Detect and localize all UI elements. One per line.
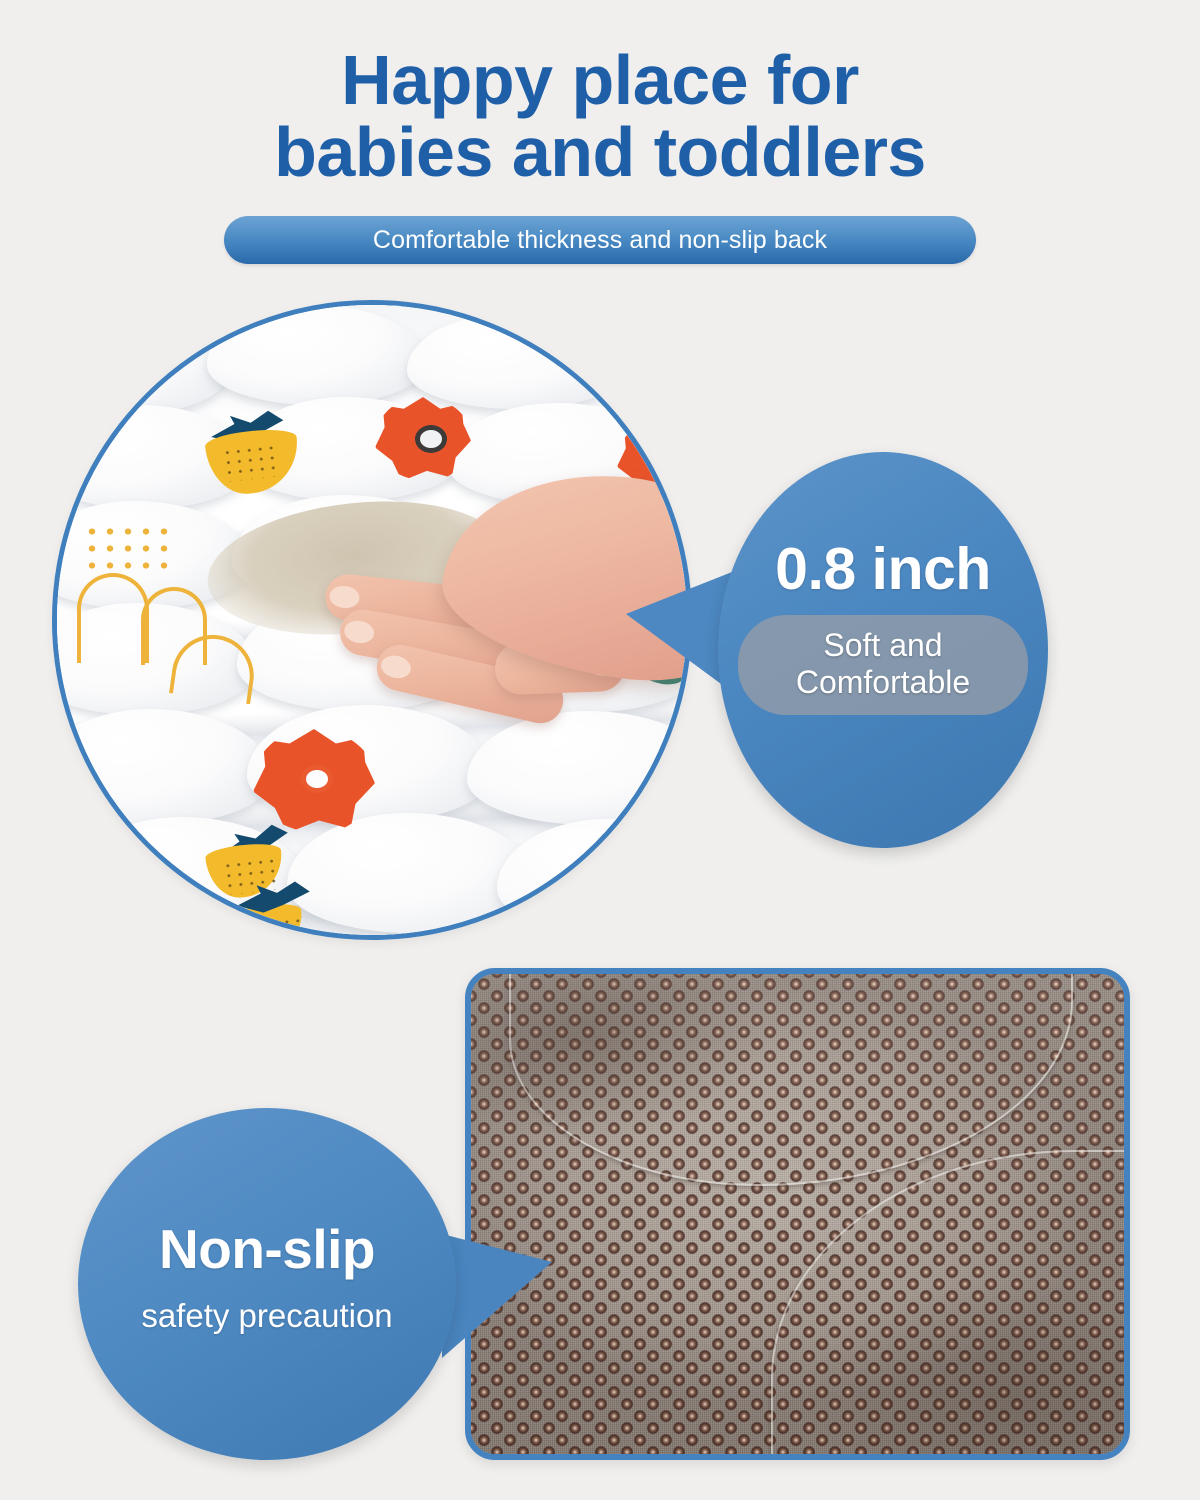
non-slip-callout-content: Non-slip safety precaution bbox=[78, 1108, 456, 1460]
carrot-motif bbox=[207, 845, 283, 897]
quilt-puff bbox=[207, 305, 427, 405]
bubble-tail-pointer bbox=[442, 1234, 552, 1358]
comfort-badge: Soft and Comfortable bbox=[738, 615, 1028, 715]
non-slip-callout-bubble: Non-slip safety precaution bbox=[78, 1108, 456, 1460]
bubble-tail-pointer bbox=[626, 572, 732, 692]
comfort-badge-line-1: Soft and bbox=[738, 627, 1028, 664]
page-title-line-1: Happy place for bbox=[0, 44, 1200, 116]
subtitle-text: Comfortable thickness and non-slip back bbox=[373, 226, 827, 255]
mattress-fabric-texture bbox=[57, 305, 687, 935]
quilt-puff bbox=[407, 313, 627, 409]
subtitle-banner: Comfortable thickness and non-slip back bbox=[224, 216, 976, 264]
quilt-puff bbox=[497, 819, 692, 935]
thickness-value: 0.8 inch bbox=[775, 540, 991, 599]
comfort-badge-line-2: Comfortable bbox=[738, 664, 1028, 701]
page-title: Happy place for babies and toddlers bbox=[0, 0, 1200, 188]
fingernail bbox=[379, 653, 413, 681]
quilt-puff bbox=[52, 319, 227, 415]
quilt-puff bbox=[52, 709, 272, 825]
line-art-motif bbox=[77, 573, 149, 663]
dots-motif bbox=[83, 523, 179, 569]
thickness-callout-bubble: 0.8 inch Soft and Comfortable bbox=[718, 452, 1048, 848]
carrot-body-icon bbox=[204, 426, 302, 497]
carrot-motif bbox=[207, 431, 299, 493]
non-slip-subtitle: safety precaution bbox=[141, 1299, 392, 1332]
thickness-callout-content: 0.8 inch Soft and Comfortable bbox=[718, 452, 1048, 848]
subtitle-banner-wrap: Comfortable thickness and non-slip back bbox=[0, 216, 1200, 264]
non-slip-back-photo bbox=[465, 968, 1130, 1460]
page-title-line-2: babies and toddlers bbox=[0, 116, 1200, 188]
mattress-top-photo bbox=[52, 300, 692, 940]
poppy-core-icon bbox=[415, 425, 447, 453]
fingernail bbox=[343, 618, 376, 645]
header: Happy place for babies and toddlers Comf… bbox=[0, 0, 1200, 264]
non-slip-title: Non-slip bbox=[159, 1222, 375, 1277]
fingernail bbox=[328, 585, 360, 610]
